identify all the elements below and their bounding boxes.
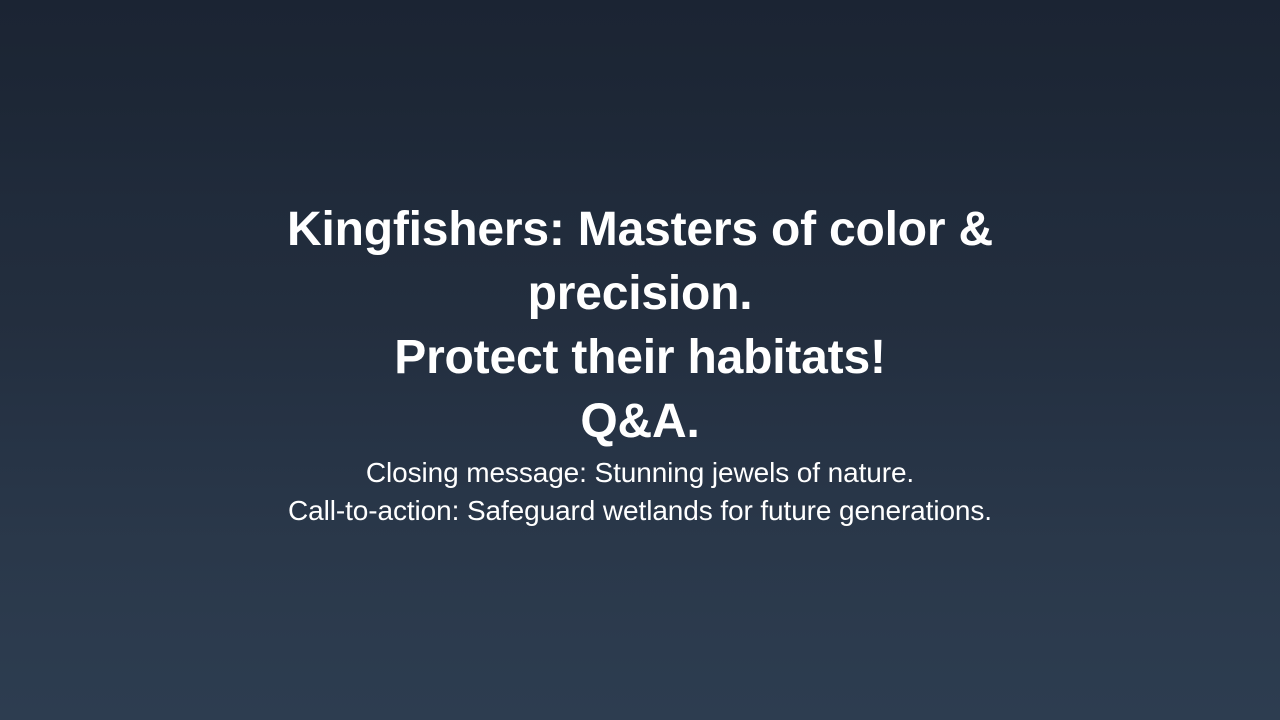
- slide-headline: Kingfishers: Masters of color & precisio…: [287, 198, 993, 454]
- headline-line-1: Kingfishers: Masters of color &: [287, 198, 993, 262]
- headline-line-4: Q&A.: [287, 390, 993, 454]
- presentation-slide: Kingfishers: Masters of color & precisio…: [0, 0, 1280, 720]
- headline-line-2: precision.: [287, 262, 993, 326]
- slide-subtitle: Closing message: Stunning jewels of natu…: [288, 454, 992, 530]
- subtitle-line-call-to-action: Call-to-action: Safeguard wetlands for f…: [288, 492, 992, 530]
- slide-content-block: Kingfishers: Masters of color & precisio…: [0, 198, 1280, 530]
- subtitle-line-closing-message: Closing message: Stunning jewels of natu…: [288, 454, 992, 492]
- headline-line-3: Protect their habitats!: [287, 326, 993, 390]
